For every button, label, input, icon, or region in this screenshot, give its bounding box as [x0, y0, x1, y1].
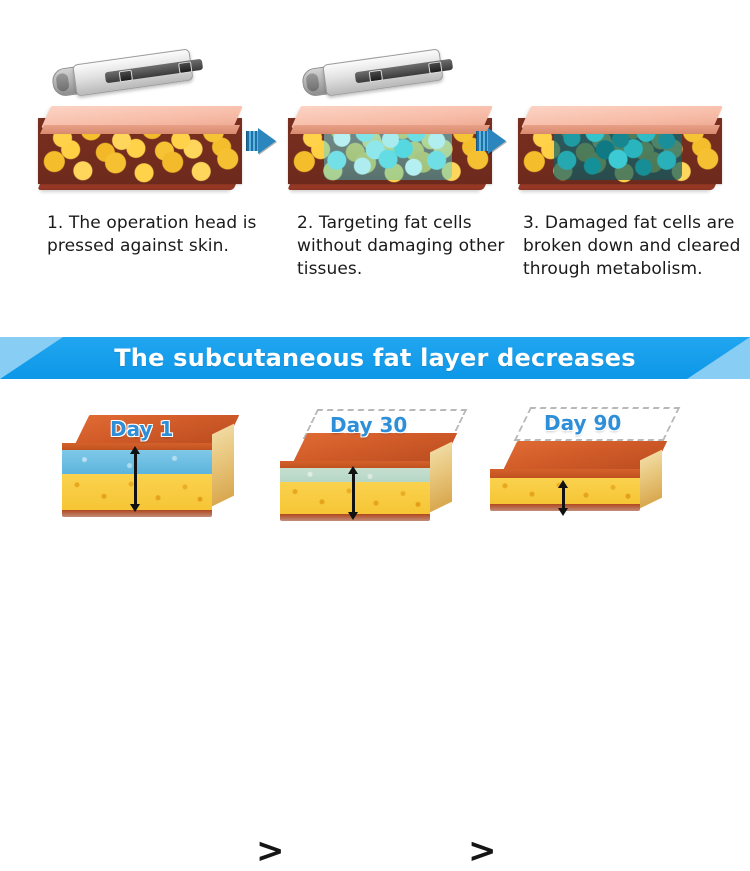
- device-body: [72, 48, 193, 96]
- device-indicator-1: [369, 70, 383, 83]
- step-caption-2: 2. Targeting fat cells without damaging …: [297, 212, 512, 281]
- arrow-head: [488, 128, 506, 154]
- skin-layer-edge: [290, 125, 490, 134]
- step-panel-2: [278, 46, 506, 206]
- step-panel-1: [28, 46, 256, 206]
- step-caption-1: 1. The operation head is pressed against…: [47, 212, 257, 258]
- banner-title: The subcutaneous fat layer decreases: [0, 337, 750, 379]
- arrow-head: [258, 128, 276, 154]
- tissue-cross-section-1: [36, 92, 248, 204]
- tissue-cross-section-2: [286, 92, 498, 204]
- thickness-measure-arrow: [134, 453, 137, 505]
- progress-separator-2: >: [468, 831, 497, 871]
- device-indicator-2: [428, 61, 442, 74]
- block-front-face: [490, 469, 640, 511]
- day-label-90: Day 90: [544, 411, 621, 435]
- section-banner: The subcutaneous fat layer decreases: [0, 337, 750, 379]
- skin-layer-edge: [520, 125, 720, 134]
- device-body: [322, 48, 443, 96]
- flow-arrow-right-icon: [476, 128, 506, 154]
- tissue-cross-section-3: [516, 92, 728, 204]
- day-label-1: Day 1: [110, 417, 173, 441]
- block-side-face: [212, 424, 234, 507]
- step-caption-3: 3. Damaged fat cells are broken down and…: [523, 212, 743, 281]
- treatment-steps-section: 1. The operation head is pressed against…: [0, 0, 750, 330]
- layer-fat: [280, 482, 430, 514]
- layer-dermis: [490, 469, 640, 478]
- skin-layer-edge: [40, 125, 240, 134]
- block-side-face: [640, 450, 662, 509]
- progress-separator-1: >: [256, 831, 285, 871]
- flow-arrow-right-icon: [246, 128, 276, 154]
- device-indicator-1: [119, 70, 133, 83]
- block-side-face: [430, 442, 452, 513]
- fat-layer-timeline-section: Day 1 > Day 30 >: [0, 379, 750, 577]
- timeline-block-day-90: Day 90: [500, 407, 700, 537]
- step-panel-3: [508, 46, 736, 206]
- timeline-block-day-30: Day 30: [288, 407, 478, 537]
- timeline-block-day-1: Day 1: [62, 407, 252, 537]
- thickness-measure-arrow: [562, 487, 565, 509]
- device-indicator-2: [178, 61, 192, 74]
- thickness-measure-arrow: [352, 473, 355, 513]
- day-label-30: Day 30: [330, 413, 407, 437]
